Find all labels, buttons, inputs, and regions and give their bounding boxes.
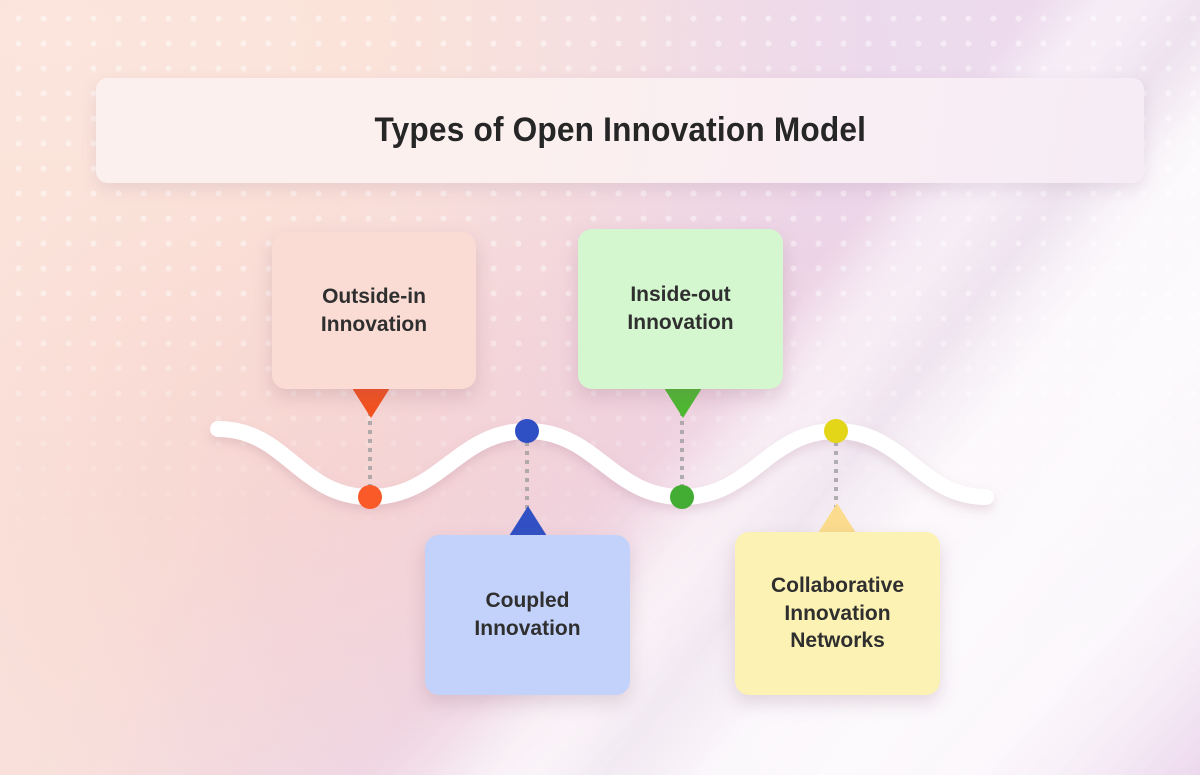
- wave-dot-inside-out: [670, 485, 694, 509]
- marker-triangle-coupled: [509, 506, 547, 536]
- card-coins[interactable]: Collaborative Innovation Networks: [735, 532, 940, 695]
- marker-triangle-coins: [818, 503, 856, 533]
- connector-outside-in: [368, 412, 372, 492]
- card-inside-out[interactable]: Inside-out Innovation: [578, 229, 783, 389]
- infographic-canvas: Types of Open Innovation Model Outside-i…: [0, 0, 1200, 775]
- wave-dot-coins: [824, 419, 848, 443]
- wave-dot-outside-in: [358, 485, 382, 509]
- card-outside-in[interactable]: Outside-in Innovation: [272, 232, 476, 389]
- card-label-coupled: Coupled Innovation: [460, 587, 594, 643]
- card-coupled[interactable]: Coupled Innovation: [425, 535, 630, 695]
- marker-triangle-outside-in: [352, 388, 390, 418]
- card-label-outside-in: Outside-in Innovation: [307, 283, 441, 339]
- connector-inside-out: [680, 412, 684, 492]
- card-label-coins: Collaborative Innovation Networks: [757, 572, 918, 656]
- marker-triangle-inside-out: [664, 388, 702, 418]
- card-label-inside-out: Inside-out Innovation: [613, 281, 747, 337]
- wave-dot-coupled: [515, 419, 539, 443]
